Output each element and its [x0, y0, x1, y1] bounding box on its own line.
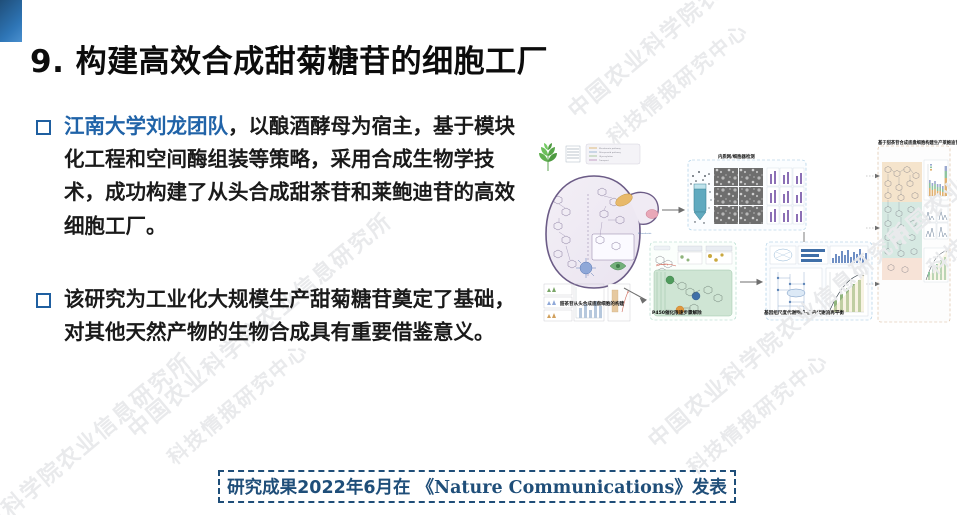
panel-p450: rate limiting — [650, 242, 736, 320]
bullet-highlight-1: 江南大学刘龙团队 — [64, 114, 228, 138]
svg-text:rate limiting: rate limiting — [656, 263, 669, 266]
panel-plant-cell: Mevalonate pathway Diterpenoid pathway G… — [539, 143, 658, 288]
arrow-p450-to-network — [740, 280, 762, 285]
square-bullet-icon — [36, 120, 51, 135]
body-content: 江南大学刘龙团队，以酿酒酵母为宿主，基于模块化工程和空间酶组装等策略，采用合成生… — [36, 110, 534, 371]
mini-plot-grid — [767, 168, 804, 224]
watermark-text: 中国农业科学院农业信息研究所 — [560, 0, 838, 125]
bullet-body-2: 该研究为工业化大规模生产甜菊糖苷奠定了基础，对其他天然产物的生物合成具有重要借鉴… — [64, 287, 515, 344]
panel-organelle — [688, 160, 806, 230]
bullet-text-1: 江南大学刘龙团队，以酿酒酵母为宿主，基于模块化工程和空间酶组装等策略，采用合成生… — [64, 110, 534, 243]
panel-network — [766, 242, 872, 320]
journal-name: Nature Communications — [434, 478, 674, 498]
figure-caption-p450: P450催化限速步骤解除 — [652, 310, 702, 316]
banner-prefix: 研究成果2022年6月在 《 — [227, 478, 434, 498]
arrow-cell-to-organelle — [662, 208, 684, 213]
square-bullet-icon — [36, 293, 51, 308]
figure-caption-organelle: 内质网/细胞器检测 — [718, 154, 755, 160]
svg-text:Rebaudioside: Rebaudioside — [638, 233, 652, 235]
publication-banner: 研究成果2022年6月在 《Nature Communications》发表 — [218, 470, 736, 503]
watermark-text: 科技情报研究中心 — [680, 345, 833, 480]
bullet-text-2: 该研究为工业化大规模生产甜菊糖苷奠定了基础，对其他天然产物的生物合成具有重要借鉴… — [64, 283, 534, 349]
svg-text:Glycosylation: Glycosylation — [599, 155, 614, 158]
figure-caption-network: 基因组尺度代谢网络-胞内代谢流再平衡 — [764, 310, 844, 316]
figure-caption-strain: 基于甜茶苷合成底盘细胞构建生产莱鲍迪苷的工程菌株 — [878, 140, 957, 146]
svg-text:Transport: Transport — [599, 159, 609, 162]
watermark-text: 科技情报研究中心 — [600, 15, 753, 150]
panel-strain — [866, 146, 950, 322]
corner-accent-bar — [0, 0, 22, 42]
svg-text:Mevalonate pathway: Mevalonate pathway — [599, 147, 621, 150]
publication-banner-text: 研究成果2022年6月在 《Nature Communications》发表 — [227, 474, 727, 499]
banner-suffix: 》发表 — [674, 478, 727, 498]
bullet-item-2: 该研究为工业化大规模生产甜菊糖苷奠定了基础，对其他天然产物的生物合成具有重要借鉴… — [36, 283, 534, 349]
svg-text:Diterpenoid pathway: Diterpenoid pathway — [599, 151, 622, 154]
figure-stevioside-cell-factory: Mevalonate pathway Diterpenoid pathway G… — [528, 138, 952, 334]
bullet-item-1: 江南大学刘龙团队，以酿酒酵母为宿主，基于模块化工程和空间酶组装等策略，采用合成生… — [36, 110, 534, 243]
page-title: 9. 构建高效合成甜菊糖苷的细胞工厂 — [30, 36, 548, 81]
figure-caption-chassis: 甜茶苷从头合成底盘细胞的构建 — [550, 302, 634, 308]
